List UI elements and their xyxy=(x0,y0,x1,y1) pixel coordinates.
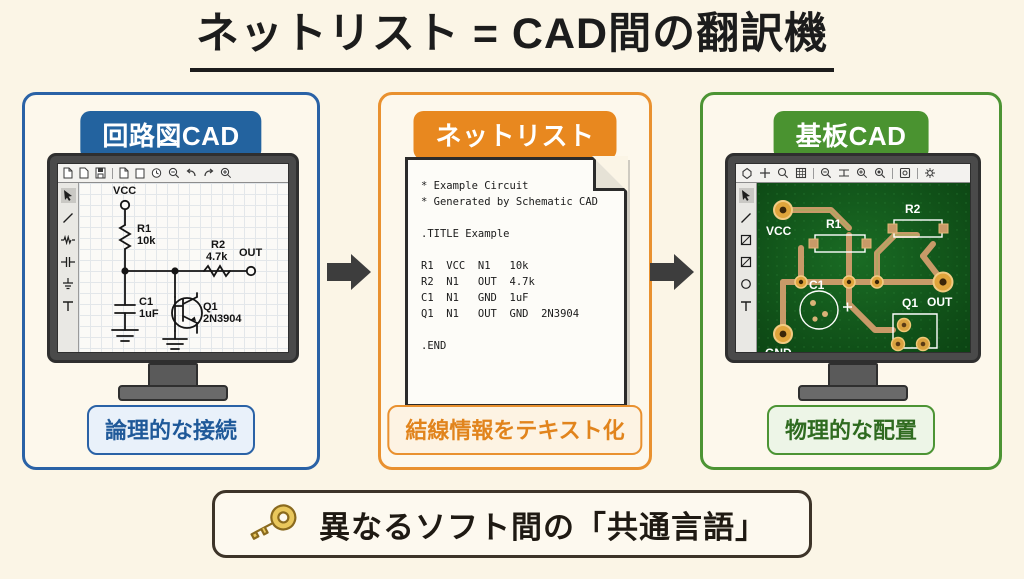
clock-icon[interactable] xyxy=(151,167,162,179)
measure-icon[interactable] xyxy=(838,167,850,179)
schematic-label-out: OUT xyxy=(239,247,262,259)
schematic-canvas[interactable]: VCC R1 10k R2 4.7k OUT C1 1uF Q1 2N3904 xyxy=(79,183,288,352)
pcb-label-q1: Q1 xyxy=(902,296,918,310)
schematic-label-r2: R2 xyxy=(211,239,225,251)
save-icon[interactable] xyxy=(95,167,106,179)
netlist-paper: * Example Circuit * Generated by Schemat… xyxy=(405,157,627,407)
circle-tool-icon[interactable] xyxy=(739,276,754,291)
pcb-canvas[interactable]: VCC GND OUT R1 R2 C1 Q1 xyxy=(757,183,970,352)
zoom-find-icon[interactable] xyxy=(220,167,232,179)
pointer-tool-icon[interactable] xyxy=(61,188,76,203)
paste-icon[interactable] xyxy=(135,167,145,179)
panel-header-netlist: ネットリスト xyxy=(413,111,616,160)
monitor-base xyxy=(798,385,908,401)
pad-rect-tool-icon[interactable] xyxy=(739,232,754,247)
drc-icon[interactable] xyxy=(899,167,911,179)
toolbar-separator xyxy=(813,168,814,179)
schematic-label-r1-value: 10k xyxy=(137,235,155,247)
copy-icon[interactable] xyxy=(119,167,129,179)
open-file-icon[interactable] xyxy=(79,167,89,179)
netlist-code[interactable]: * Example Circuit * Generated by Schemat… xyxy=(421,178,616,354)
page-title: ネットリスト = CAD間の翻訳機 xyxy=(0,8,1024,72)
pcb-label-r2: R2 xyxy=(905,202,920,216)
schematic-drawing xyxy=(79,183,289,353)
text-tool-icon[interactable] xyxy=(61,298,76,313)
zoom-icon[interactable] xyxy=(777,167,789,179)
arrow-schematic-to-netlist xyxy=(327,252,373,297)
pcb-tool-sidebar[interactable] xyxy=(736,183,757,352)
text-tool-icon[interactable] xyxy=(739,298,754,313)
panel-pcb-cad: 基板CAD xyxy=(700,92,1002,470)
capacitor-tool-icon[interactable] xyxy=(61,254,76,269)
panel-footer-netlist: 結線情報をテキスト化 xyxy=(387,405,642,455)
toolbar-separator xyxy=(892,168,893,179)
pcb-label-r1: R1 xyxy=(826,217,841,231)
pcb-label-c1: C1 xyxy=(809,278,824,292)
pcb-drawing xyxy=(757,183,971,353)
monitor-schematic: VCC R1 10k R2 4.7k OUT C1 1uF Q1 2N3904 xyxy=(47,153,299,403)
monitor-base xyxy=(118,385,228,401)
monitor-neck xyxy=(828,363,878,387)
key-icon xyxy=(239,503,303,545)
track-tool-icon[interactable] xyxy=(739,210,754,225)
ground-tool-icon[interactable] xyxy=(61,276,76,291)
schematic-label-q1-value: 2N3904 xyxy=(203,313,242,325)
monitor-neck xyxy=(148,363,198,387)
schematic-label-c1-value: 1uF xyxy=(139,308,159,320)
pcb-label-gnd: GND xyxy=(765,346,792,353)
pcb-label-out: OUT xyxy=(927,295,952,309)
pointer-tool-icon[interactable] xyxy=(739,188,754,203)
new-file-icon[interactable] xyxy=(63,167,73,179)
summary-banner: 異なるソフト間の「共通言語」 xyxy=(212,490,812,558)
schematic-label-c1: C1 xyxy=(139,296,153,308)
screen-schematic: VCC R1 10k R2 4.7k OUT C1 1uF Q1 2N3904 xyxy=(57,163,289,353)
schematic-label-vcc: VCC xyxy=(113,185,136,197)
panel-netlist: ネットリスト * Example Circuit * Generated by … xyxy=(378,92,652,470)
junction-dot xyxy=(171,267,178,274)
panel-footer-schematic-cad: 論理的な接続 xyxy=(87,405,255,455)
infographic-root: ネットリスト = CAD間の翻訳機 回路図CAD xyxy=(0,0,1024,579)
line-tool-icon[interactable] xyxy=(61,210,76,225)
pad-shape-icon[interactable] xyxy=(741,167,753,179)
schematic-label-r1: R1 xyxy=(137,223,151,235)
grid-icon[interactable] xyxy=(795,167,807,179)
panel-footer-pcb-cad: 物理的な配置 xyxy=(767,405,935,455)
summary-banner-text: 異なるソフト間の「共通言語」 xyxy=(319,502,767,547)
zoom-out-icon[interactable] xyxy=(820,167,832,179)
redo-icon[interactable] xyxy=(203,167,214,179)
schematic-toolbar[interactable] xyxy=(58,164,288,183)
junction-dot xyxy=(121,267,128,274)
pcb-toolbar[interactable] xyxy=(736,164,970,183)
pcb-label-vcc: VCC xyxy=(766,224,791,238)
page-title-text: ネットリスト = CAD間の翻訳機 xyxy=(190,8,834,72)
zoom-in-icon[interactable] xyxy=(856,167,868,179)
zoom-fit-icon[interactable] xyxy=(874,167,886,179)
resistor-tool-icon[interactable] xyxy=(61,232,76,247)
undo-icon[interactable] xyxy=(186,167,197,179)
crosshair-icon[interactable] xyxy=(759,167,771,179)
screen-pcb: VCC GND OUT R1 R2 C1 Q1 xyxy=(735,163,971,353)
schematic-label-r2-value: 4.7k xyxy=(206,251,227,263)
arrow-netlist-to-pcb xyxy=(650,252,696,297)
zone-tool-icon[interactable] xyxy=(739,254,754,269)
toolbar-separator xyxy=(917,168,918,179)
monitor-pcb: VCC GND OUT R1 R2 C1 Q1 xyxy=(725,153,981,403)
panel-schematic-cad: 回路図CAD xyxy=(22,92,320,470)
settings-icon[interactable] xyxy=(924,167,936,179)
schematic-tool-sidebar[interactable] xyxy=(58,183,79,352)
schematic-label-q1: Q1 xyxy=(203,301,218,313)
toolbar-separator xyxy=(112,168,113,179)
zoom-out-icon[interactable] xyxy=(168,167,180,179)
